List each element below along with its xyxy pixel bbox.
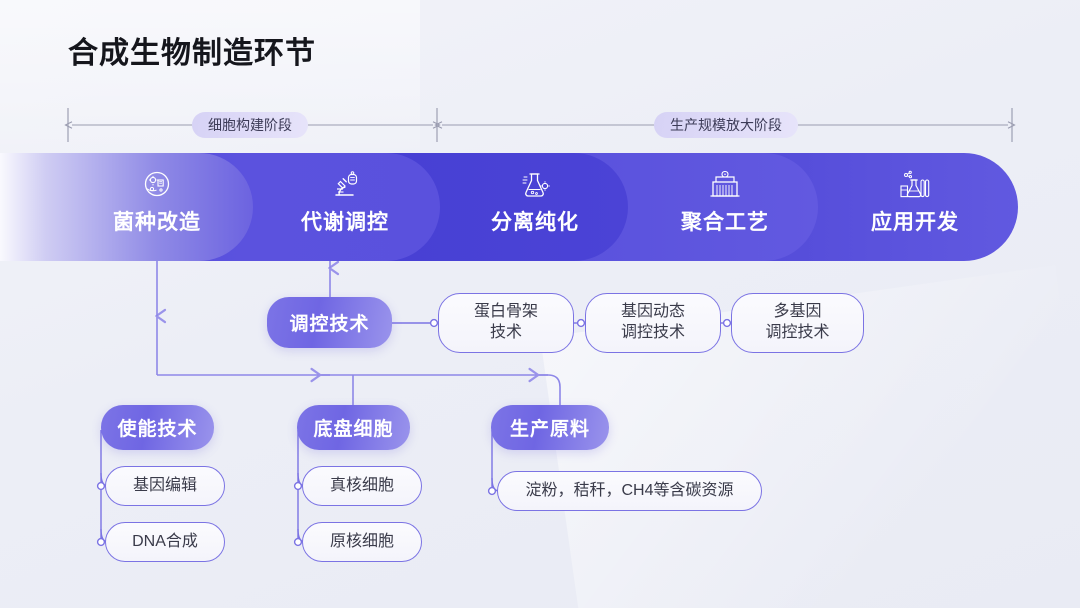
flask-separation-icon xyxy=(518,168,552,202)
stage-label-strain-modification: 菌种改造 xyxy=(62,206,252,236)
node-enabling-tech[interactable]: 使能技术 xyxy=(101,405,214,450)
node-gene-editing[interactable]: 基因编辑 xyxy=(105,466,225,506)
node-eukaryotic-cell-label: 真核细胞 xyxy=(330,476,394,496)
stage-item-polymerization[interactable]: 聚合工艺 xyxy=(630,153,820,261)
node-prokaryotic-cell[interactable]: 原核细胞 xyxy=(302,522,422,562)
phase-rail xyxy=(0,100,1080,150)
microscope-icon xyxy=(328,168,362,202)
node-raw-material[interactable]: 生产原料 xyxy=(491,405,609,450)
node-carbon-resources[interactable]: 淀粉，秸秆，CH4等含碳资源 xyxy=(497,471,762,511)
stage-label-metabolic-control: 代谢调控 xyxy=(250,206,440,236)
node-eukaryotic-cell[interactable]: 真核细胞 xyxy=(302,466,422,506)
node-gene-editing-label: 基因编辑 xyxy=(133,476,197,496)
node-dna-synthesis-label: DNA合成 xyxy=(132,532,198,552)
stage-label-polymerization: 聚合工艺 xyxy=(630,206,820,236)
node-protein-scaffold-tech-label: 蛋白骨架技术 xyxy=(474,302,538,344)
slide-canvas: 合成生物制造环节 细胞构建阶段 生产规模放大阶段 xyxy=(0,0,1080,608)
stage-item-metabolic-control[interactable]: 代谢调控 xyxy=(250,153,440,261)
node-protein-scaffold-tech[interactable]: 蛋白骨架技术 xyxy=(438,293,574,353)
node-prokaryotic-cell-label: 原核细胞 xyxy=(330,532,394,552)
node-raw-material-label: 生产原料 xyxy=(510,414,590,441)
stage-items: 菌种改造 代谢调控 xyxy=(0,153,1018,261)
node-multigene-regulation-tech-label: 多基因调控技术 xyxy=(765,302,829,344)
stage-label-separation-purification: 分离纯化 xyxy=(440,206,630,236)
petri-dish-microbe-icon xyxy=(140,168,174,202)
node-enabling-tech-label: 使能技术 xyxy=(117,414,197,441)
node-regulation-tech-label: 调控技术 xyxy=(289,309,369,336)
node-chassis-cell[interactable]: 底盘细胞 xyxy=(297,405,410,450)
node-chassis-cell-label: 底盘细胞 xyxy=(313,414,393,441)
stage-item-separation-purification[interactable]: 分离纯化 xyxy=(440,153,630,261)
factory-icon xyxy=(708,168,742,202)
node-carbon-resources-label: 淀粉，秸秆，CH4等含碳资源 xyxy=(525,481,733,501)
stage-item-application-dev[interactable]: 应用开发 xyxy=(820,153,1010,261)
node-dna-synthesis[interactable]: DNA合成 xyxy=(105,522,225,562)
page-title: 合成生物制造环节 xyxy=(68,28,316,72)
lab-beakers-icon xyxy=(898,168,932,202)
stage-item-strain-modification[interactable]: 菌种改造 xyxy=(62,153,252,261)
node-gene-dynamic-regulation-tech-label: 基因动态调控技术 xyxy=(621,302,685,344)
node-regulation-tech[interactable]: 调控技术 xyxy=(267,297,392,348)
phase-label-cell-construction: 细胞构建阶段 xyxy=(192,112,308,138)
node-gene-dynamic-regulation-tech[interactable]: 基因动态调控技术 xyxy=(585,293,721,353)
node-multigene-regulation-tech[interactable]: 多基因调控技术 xyxy=(731,293,864,353)
stage-label-application-dev: 应用开发 xyxy=(820,206,1010,236)
phase-label-production-scaleup: 生产规模放大阶段 xyxy=(654,112,798,138)
